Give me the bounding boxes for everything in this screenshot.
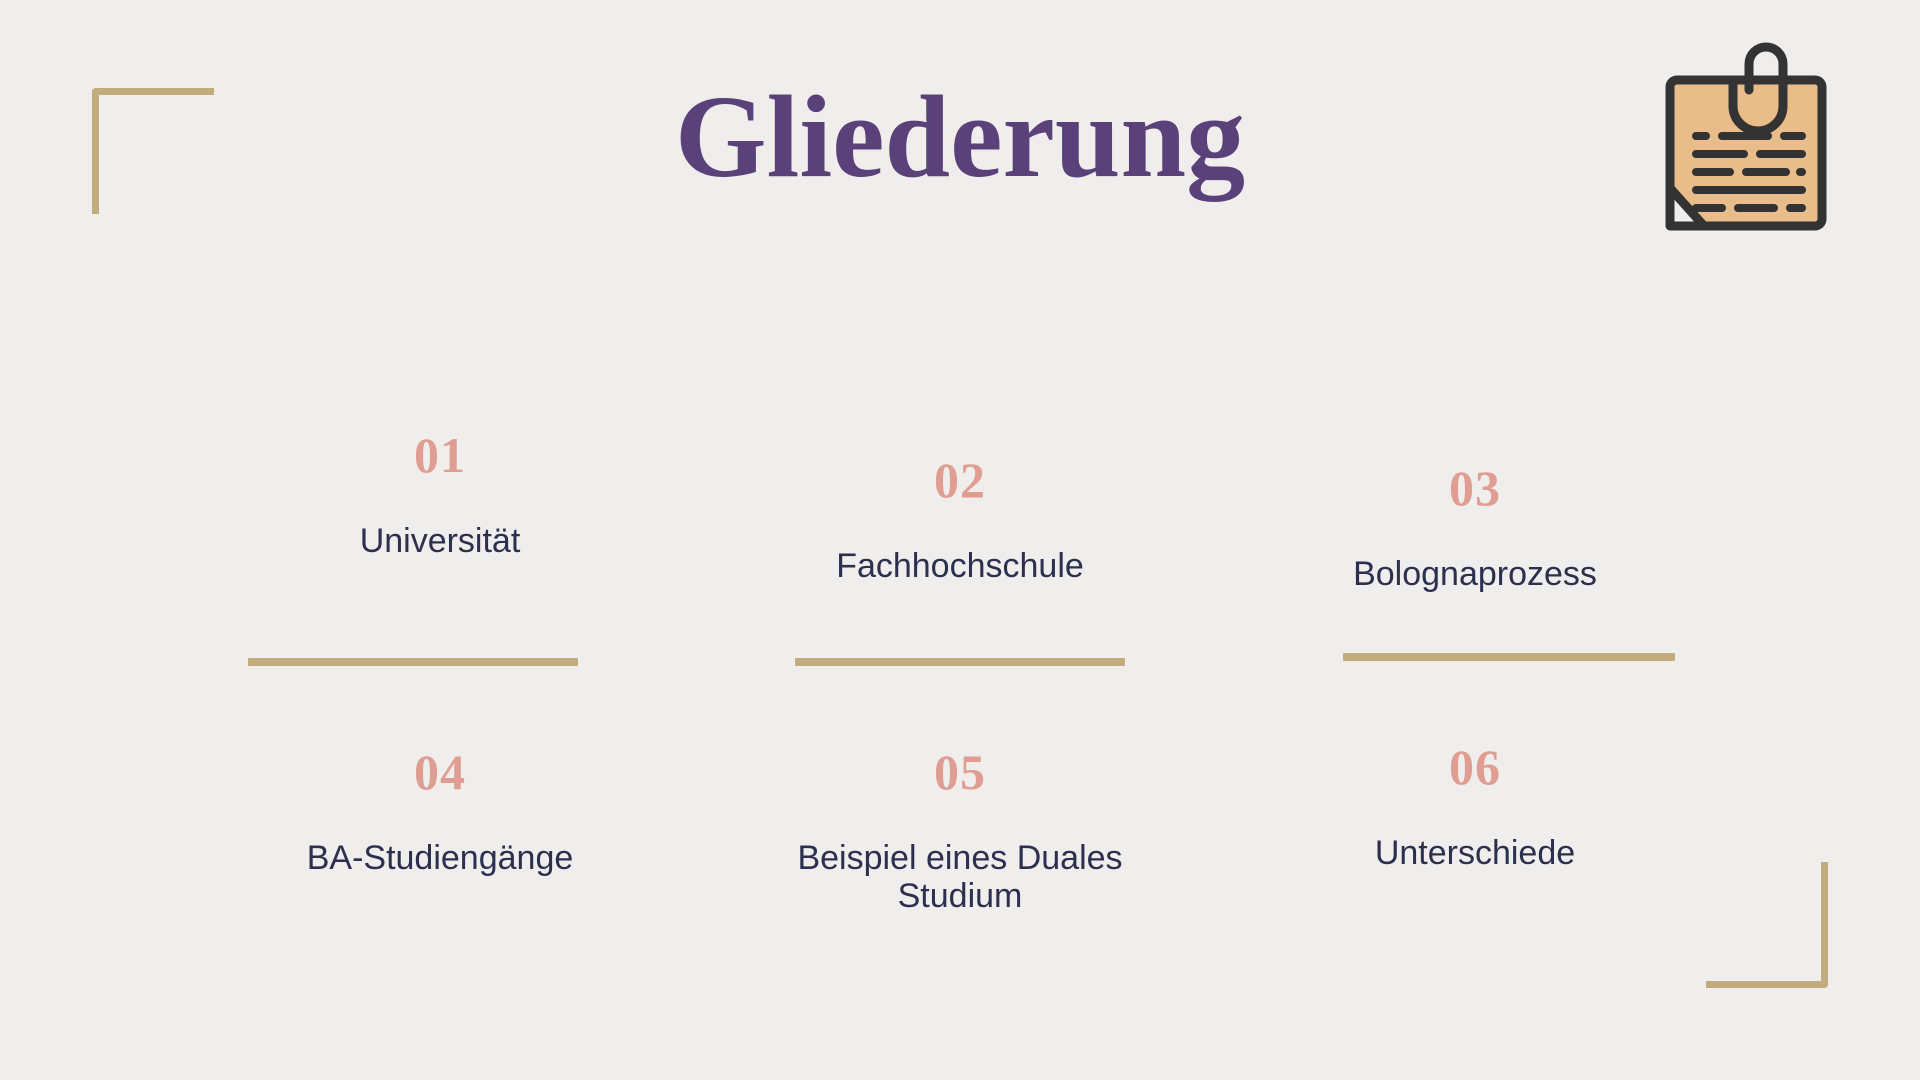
divider-column-3 bbox=[1343, 653, 1675, 661]
agenda-item-02[interactable]: 02 Fachhochschule bbox=[750, 455, 1170, 585]
agenda-item-number: 03 bbox=[1265, 463, 1685, 513]
agenda-item-06[interactable]: 06 Unterschiede bbox=[1265, 742, 1685, 872]
agenda-item-number: 04 bbox=[230, 747, 650, 797]
agenda-item-label: Universität bbox=[230, 522, 650, 560]
agenda-item-03[interactable]: 03 Bolognaprozess bbox=[1265, 463, 1685, 593]
agenda-item-number: 06 bbox=[1265, 742, 1685, 792]
divider-column-1 bbox=[248, 658, 578, 666]
agenda-item-label: Unterschiede bbox=[1265, 834, 1685, 872]
agenda-item-01[interactable]: 01 Universität bbox=[230, 430, 650, 560]
agenda-list: 01 Universität 02 Fachhochschule 03 Bolo… bbox=[0, 0, 1920, 1080]
agenda-item-number: 05 bbox=[750, 747, 1170, 797]
agenda-item-number: 01 bbox=[230, 430, 650, 480]
presentation-slide: Gliederung bbox=[0, 0, 1920, 1080]
agenda-item-number: 02 bbox=[750, 455, 1170, 505]
agenda-item-label: Fachhochschule bbox=[750, 547, 1170, 585]
divider-column-2 bbox=[795, 658, 1125, 666]
agenda-item-label: BA-Studiengänge bbox=[230, 839, 650, 877]
agenda-item-label: Bolognaprozess bbox=[1265, 555, 1685, 593]
agenda-item-05[interactable]: 05 Beispiel eines Duales Studium bbox=[750, 747, 1170, 915]
agenda-item-label: Beispiel eines Duales Studium bbox=[750, 839, 1170, 915]
agenda-item-04[interactable]: 04 BA-Studiengänge bbox=[230, 747, 650, 877]
